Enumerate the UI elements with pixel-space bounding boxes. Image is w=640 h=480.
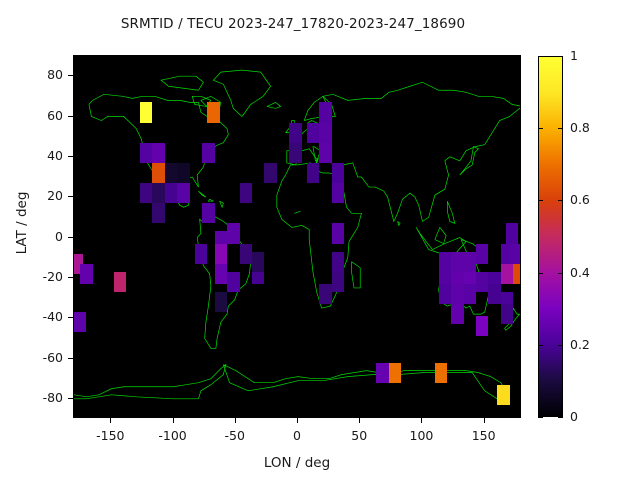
x-tick-label: 150 xyxy=(454,428,514,443)
y-tick-label: -40 xyxy=(19,309,63,324)
x-tick-mark xyxy=(359,418,360,423)
y-tick-label: 0 xyxy=(19,229,63,244)
data-cell xyxy=(451,252,463,272)
data-cell xyxy=(476,316,488,336)
data-cell xyxy=(319,123,331,143)
colorbar-tick-label: 0.4 xyxy=(570,265,610,280)
data-cell xyxy=(152,163,164,183)
data-cell xyxy=(177,163,189,183)
data-cell xyxy=(476,272,488,292)
data-cell xyxy=(389,363,401,383)
data-cell xyxy=(439,252,451,272)
data-cell xyxy=(510,244,521,264)
y-tick-mark xyxy=(68,317,73,318)
y-tick-mark xyxy=(68,237,73,238)
data-cell xyxy=(319,102,331,122)
colorbar-tick-mark xyxy=(538,200,543,201)
data-cell xyxy=(488,284,500,304)
colorbar-tick-mark xyxy=(558,128,563,129)
data-cell xyxy=(264,163,276,183)
data-cell xyxy=(289,143,301,163)
data-cell xyxy=(165,163,177,183)
data-cells-layer xyxy=(74,56,521,418)
colorbar-tick-mark xyxy=(538,56,543,57)
data-cell xyxy=(227,272,239,292)
data-cell xyxy=(501,264,513,284)
data-cell xyxy=(464,252,476,272)
data-cell xyxy=(227,223,239,243)
data-cell xyxy=(476,244,488,264)
colorbar-tick-mark xyxy=(538,345,543,346)
colorbar-tick-mark xyxy=(538,417,543,418)
data-cell xyxy=(152,183,164,203)
data-cell xyxy=(165,183,177,203)
x-tick-label: 100 xyxy=(391,428,451,443)
data-cell xyxy=(202,203,214,223)
y-tick-label: -60 xyxy=(19,350,63,365)
data-cell xyxy=(195,244,207,264)
chart-title: SRMTID / TECU 2023-247_17820-2023-247_18… xyxy=(0,16,586,32)
y-tick-mark xyxy=(68,398,73,399)
data-cell xyxy=(152,203,164,223)
colorbar-tick-label: 0 xyxy=(570,409,610,424)
y-tick-mark xyxy=(68,196,73,197)
data-cell xyxy=(207,102,219,122)
x-tick-mark xyxy=(173,418,174,423)
colorbar-tick-mark xyxy=(558,200,563,201)
y-tick-label: 80 xyxy=(19,67,63,82)
map-plot-area[interactable] xyxy=(73,55,521,418)
data-cell xyxy=(152,143,164,163)
y-tick-mark xyxy=(68,277,73,278)
x-tick-mark xyxy=(235,418,236,423)
data-cell xyxy=(289,123,301,143)
colorbar-tick-mark xyxy=(558,273,563,274)
data-cell xyxy=(506,223,518,243)
data-cell xyxy=(319,284,331,304)
y-tick-mark xyxy=(68,358,73,359)
x-tick-label: -50 xyxy=(205,428,265,443)
data-cell xyxy=(332,183,344,203)
data-cell xyxy=(307,163,319,183)
colorbar-tick-mark xyxy=(538,273,543,274)
colorbar-tick-label: 0.8 xyxy=(570,120,610,135)
y-tick-label: 20 xyxy=(19,188,63,203)
colorbar-tick-label: 0.6 xyxy=(570,192,610,207)
y-tick-mark xyxy=(68,116,73,117)
data-cell xyxy=(215,292,227,312)
data-cell xyxy=(332,223,344,243)
colorbar-gradient xyxy=(539,57,562,416)
y-axis-title: LAT / deg xyxy=(14,163,30,283)
x-tick-label: -100 xyxy=(143,428,203,443)
data-cell xyxy=(464,284,476,304)
colorbar-tick-mark xyxy=(558,417,563,418)
data-cell xyxy=(140,143,152,163)
y-tick-mark xyxy=(68,156,73,157)
data-cell xyxy=(451,284,463,304)
x-tick-label: -150 xyxy=(80,428,140,443)
data-cell xyxy=(332,252,344,272)
data-cell xyxy=(202,143,214,163)
colorbar-tick-label: 1 xyxy=(570,48,610,63)
colorbar-tick-mark xyxy=(538,128,543,129)
data-cell xyxy=(451,304,463,324)
y-tick-label: 40 xyxy=(19,148,63,163)
data-cell xyxy=(74,312,86,332)
y-tick-label: -20 xyxy=(19,269,63,284)
data-cell xyxy=(513,264,521,284)
data-cell xyxy=(332,272,344,292)
data-cell xyxy=(376,363,388,383)
colorbar-tick-label: 0.2 xyxy=(570,337,610,352)
data-cell xyxy=(319,143,331,163)
colorbar xyxy=(538,56,563,417)
data-cell xyxy=(114,272,126,292)
x-tick-mark xyxy=(421,418,422,423)
data-cell xyxy=(307,123,319,143)
data-cell xyxy=(215,264,227,284)
x-tick-mark xyxy=(110,418,111,423)
colorbar-tick-mark xyxy=(558,345,563,346)
x-tick-mark xyxy=(297,418,298,423)
y-tick-label: 60 xyxy=(19,108,63,123)
data-cell xyxy=(439,284,451,304)
data-cell xyxy=(177,183,189,203)
figure-root: SRMTID / TECU 2023-247_17820-2023-247_18… xyxy=(0,0,640,480)
data-cell xyxy=(140,183,152,203)
data-cell xyxy=(252,252,264,272)
data-cell xyxy=(80,264,92,284)
data-cell xyxy=(501,304,513,324)
x-axis-title: LON / deg xyxy=(73,455,521,471)
y-tick-label: -80 xyxy=(19,390,63,405)
data-cell xyxy=(240,183,252,203)
x-tick-mark xyxy=(484,418,485,423)
data-cell xyxy=(497,385,509,405)
data-cell xyxy=(332,163,344,183)
data-cell xyxy=(140,102,152,122)
y-tick-mark xyxy=(68,75,73,76)
x-tick-label: 0 xyxy=(267,428,327,443)
x-tick-label: 50 xyxy=(329,428,389,443)
data-cell xyxy=(435,363,447,383)
data-cell xyxy=(215,244,227,264)
data-cell xyxy=(240,244,252,264)
colorbar-tick-mark xyxy=(558,56,563,57)
